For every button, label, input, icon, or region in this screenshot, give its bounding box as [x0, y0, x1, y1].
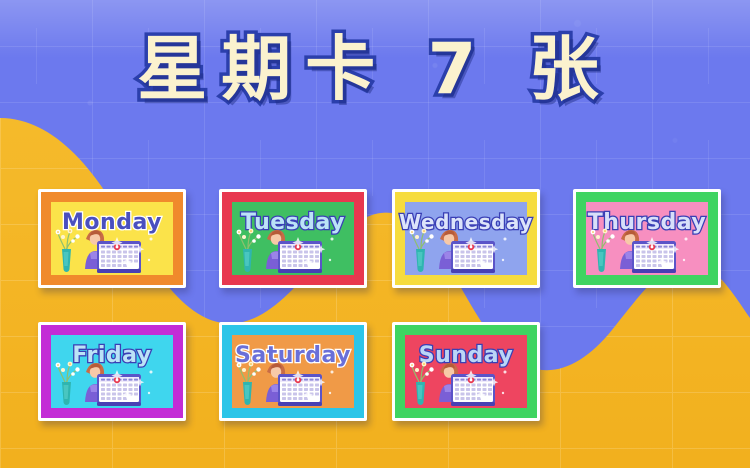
day-card-face: Friday	[51, 335, 173, 408]
sparkle-icons	[288, 233, 340, 269]
flower-vase-icon	[237, 229, 261, 272]
day-card-tuesday[interactable]: Tuesday	[219, 189, 367, 288]
day-card-face: Tuesday	[232, 202, 354, 275]
sparkle-icons	[642, 233, 694, 269]
day-card-border: Wednesday	[395, 192, 537, 285]
card-sparkles	[107, 233, 159, 269]
page-title: 星期卡 7 张	[137, 34, 612, 104]
poster-title-block: 星期卡 7 张	[0, 34, 750, 104]
flower-vase-icon	[56, 229, 80, 272]
day-card-thursday[interactable]: Thursday	[573, 189, 721, 288]
day-card-saturday[interactable]: Saturday	[219, 322, 367, 421]
sparkle-icons	[461, 366, 513, 402]
card-sparkles	[461, 366, 513, 402]
day-card-face: Monday	[51, 202, 173, 275]
card-sparkles	[107, 366, 159, 402]
day-card-face: Sunday	[405, 335, 527, 408]
sparkle-icons	[107, 366, 159, 402]
poster-canvas: 星期卡 7 张 Monday	[0, 0, 750, 468]
day-card-border: Sunday	[395, 325, 537, 418]
day-card-face: Thursday	[586, 202, 708, 275]
sparkle-icons	[107, 233, 159, 269]
day-card-border: Saturday	[222, 325, 364, 418]
flower-vase-icon	[591, 229, 615, 272]
day-card-face: Saturday	[232, 335, 354, 408]
day-card-wednesday[interactable]: Wednesday	[392, 189, 540, 288]
day-card-border: Friday	[41, 325, 183, 418]
day-card-monday[interactable]: Monday	[38, 189, 186, 288]
card-sparkles	[288, 366, 340, 402]
flower-vase-icon	[410, 229, 434, 272]
day-card-border: Tuesday	[222, 192, 364, 285]
flower-vase-icon	[237, 362, 261, 405]
day-card-border: Monday	[41, 192, 183, 285]
day-card-face: Wednesday	[405, 202, 527, 275]
card-sparkles	[642, 233, 694, 269]
sparkle-icons	[288, 366, 340, 402]
sparkle-icons	[461, 233, 513, 269]
day-card-border: Thursday	[576, 192, 718, 285]
day-card-friday[interactable]: Friday	[38, 322, 186, 421]
day-card-sunday[interactable]: Sunday	[392, 322, 540, 421]
card-sparkles	[461, 233, 513, 269]
flower-vase-icon	[410, 362, 434, 405]
card-sparkles	[288, 233, 340, 269]
flower-vase-icon	[56, 362, 80, 405]
